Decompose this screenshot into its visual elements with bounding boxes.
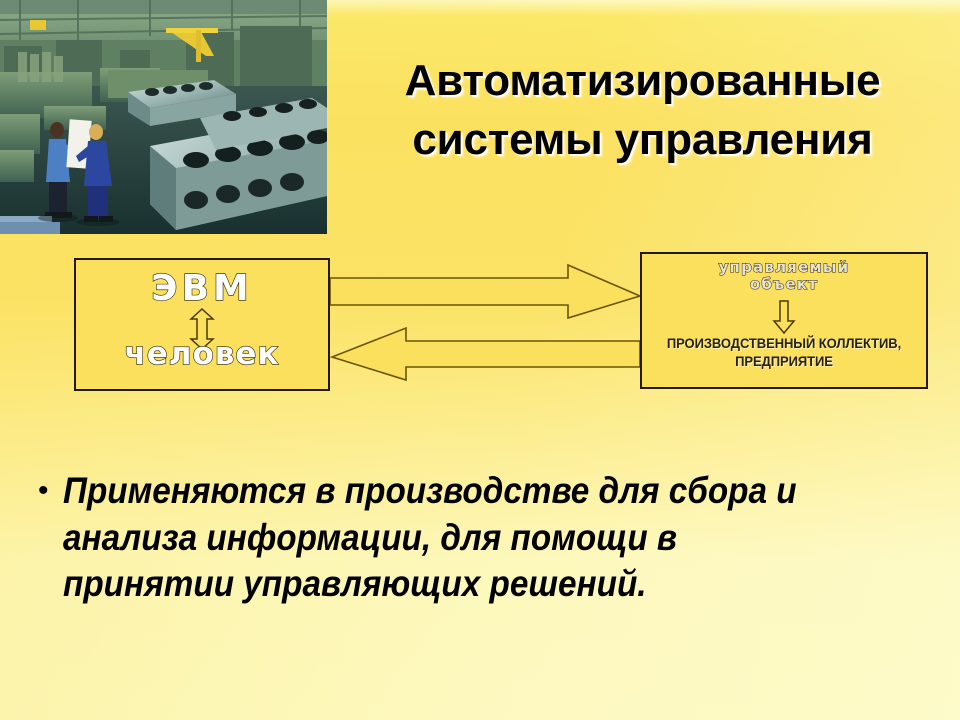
box-right-heading: управляемый объект	[642, 259, 926, 293]
title-line-1: Автоматизированные	[330, 52, 955, 111]
factory-floor-photo	[0, 0, 327, 234]
box-left-line-2: человек	[76, 336, 328, 372]
block-arrow-left-icon	[332, 328, 640, 380]
diagram-box-computer-human: ЭВМ человек	[74, 258, 330, 391]
bullet-text: Применяются в производстве для сбора и а…	[63, 468, 819, 608]
slide-title: Автоматизированные системы управления	[330, 52, 955, 170]
box-left-line-1: ЭВМ	[76, 268, 328, 309]
title-line-2: системы управления	[330, 111, 955, 170]
bullet-marker: •	[38, 468, 49, 514]
block-arrow-right-icon	[330, 265, 640, 318]
box-right-detail: ПРОИЗВОДСТВЕННЫЙ КОЛЛЕКТИВ, ПРЕДПРИЯТИЕ	[652, 334, 916, 370]
slide: Автоматизированные системы управления ЭВ…	[0, 0, 960, 720]
box-right-line-4: ПРЕДПРИЯТИЕ	[652, 352, 916, 370]
bullet-list: • Применяются в производстве для сбора и…	[38, 468, 918, 608]
box-right-line-1: управляемый	[642, 259, 926, 276]
box-right-line-2: объект	[642, 276, 926, 293]
box-right-line-3: ПРОИЗВОДСТВЕННЫЙ КОЛЛЕКТИВ,	[652, 334, 916, 352]
diagram-box-managed-object: управляемый объект ПРОИЗВОДСТВЕННЫЙ КОЛЛ…	[640, 252, 928, 389]
